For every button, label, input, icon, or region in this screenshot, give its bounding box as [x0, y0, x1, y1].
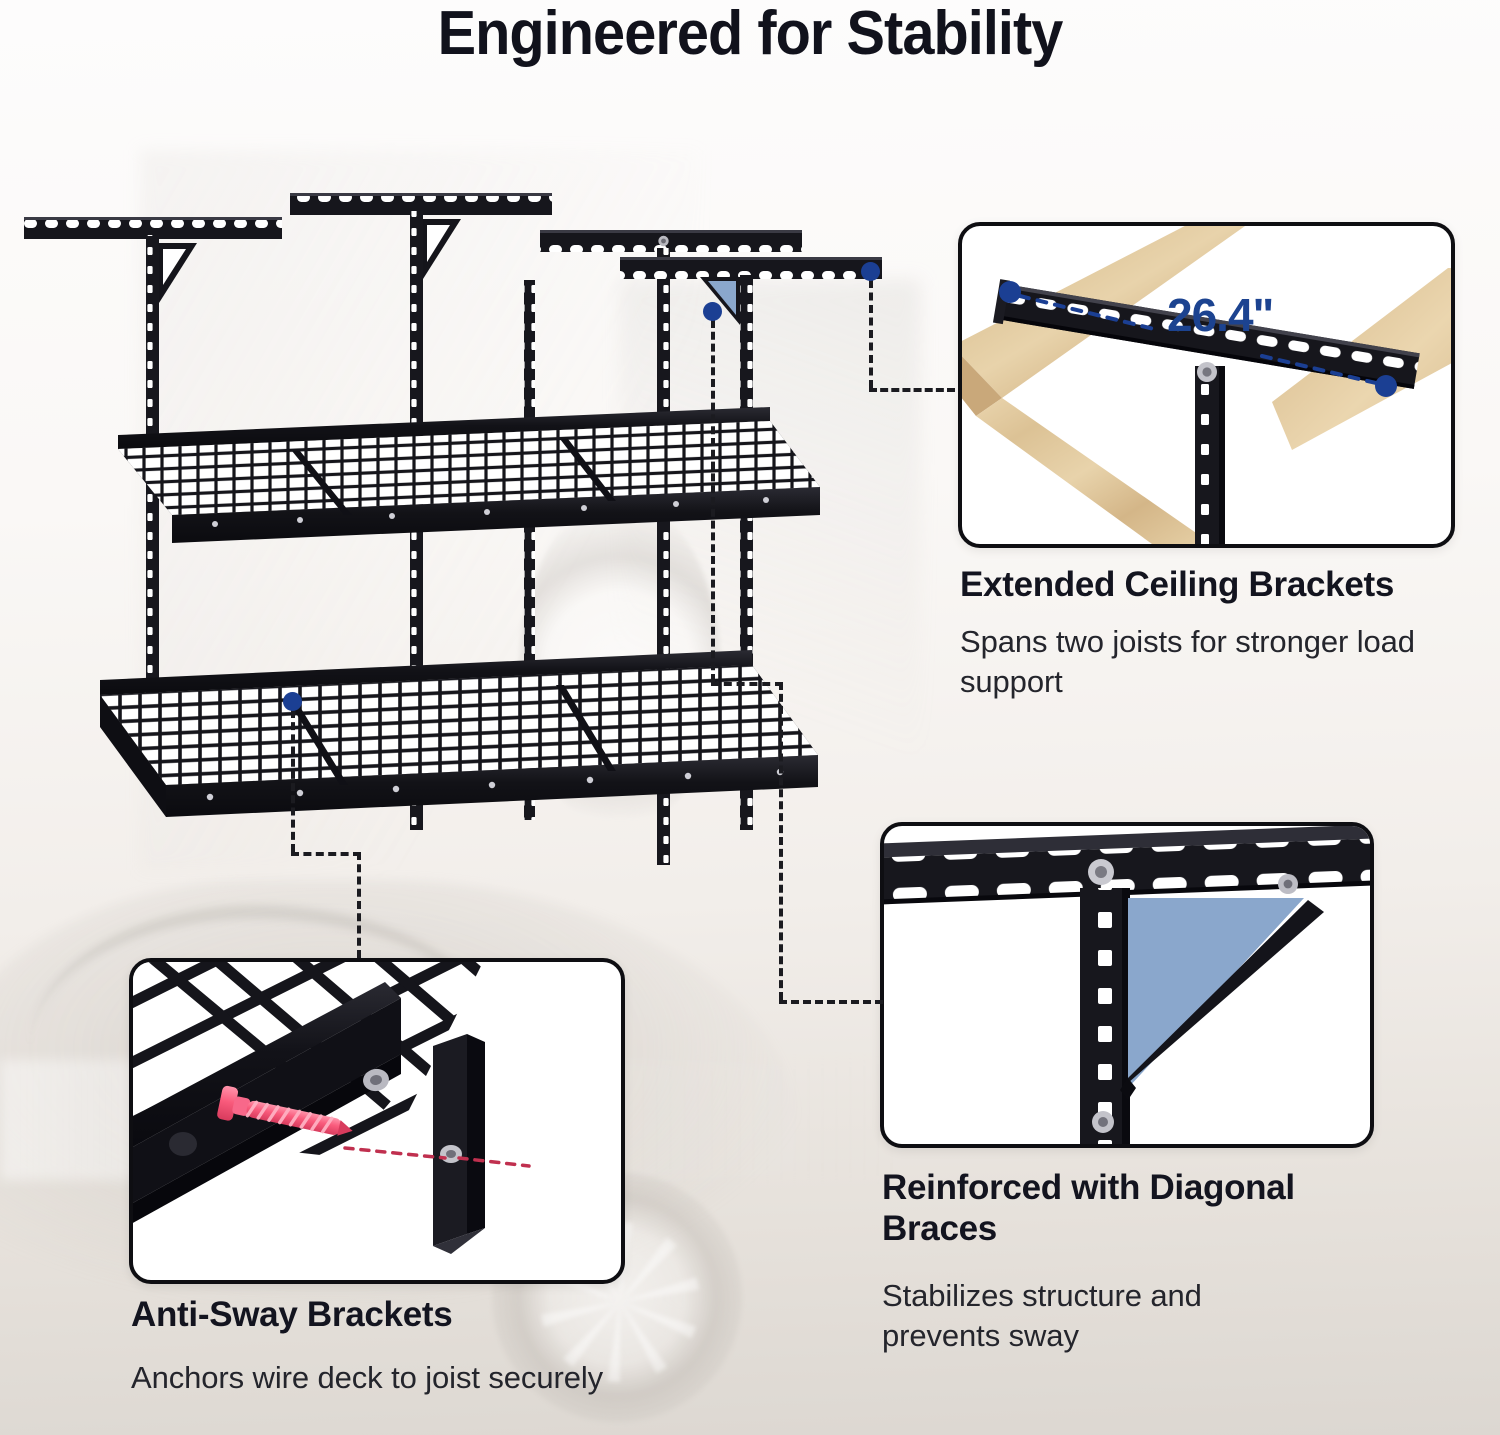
leader-line-ceiling-horizontal [869, 388, 955, 392]
caption-heading-ceiling-brackets: Extended Ceiling Brackets [960, 565, 1470, 606]
callout-dot-diagonal-brace [703, 302, 722, 321]
caption-body-ceiling-brackets: Spans two joists for stronger load suppo… [960, 622, 1460, 703]
leader-line-anti-sway-horizontal [291, 852, 361, 856]
anti-sway-strut [433, 1034, 467, 1246]
page-title: Engineered for Stability [53, 0, 1448, 69]
caption-body-diagonal-braces: Stabilizes structure and prevents sway [882, 1276, 1302, 1357]
panel-diagonal-braces [880, 822, 1374, 1148]
callout-dot-ceiling-bracket [861, 262, 880, 281]
measure-dot-right [1375, 375, 1397, 397]
bracket-upright [1195, 366, 1219, 544]
upright-post [1080, 888, 1122, 1144]
leader-line-brace-vertical-2 [779, 682, 783, 1000]
measure-dot-left [999, 281, 1021, 303]
panel-extended-ceiling-brackets: 26.4" [958, 222, 1455, 548]
anti-sway-bracket-diagram [133, 962, 621, 1280]
callout-dot-anti-sway [283, 692, 302, 711]
caption-body-anti-sway: Anchors wire deck to joist securely [131, 1358, 751, 1398]
panel-anti-sway-brackets [129, 958, 625, 1284]
infographic-canvas: Engineered for Stability [0, 0, 1500, 1435]
caption-heading-diagonal-braces: Reinforced with Diagonal Braces [882, 1168, 1352, 1249]
leader-line-anti-sway-vertical [291, 710, 295, 852]
leader-line-brace-horizontal [711, 682, 783, 686]
leader-line-anti-sway-vertical-2 [357, 852, 361, 958]
leader-line-ceiling-vertical [869, 280, 873, 388]
leader-line-brace-vertical [711, 320, 715, 682]
caption-heading-anti-sway: Anti-Sway Brackets [131, 1295, 601, 1336]
measurement-label: 26.4" [1167, 288, 1273, 342]
diagonal-brace-diagram [884, 826, 1370, 1144]
leader-line-brace-horizontal-2 [779, 1000, 883, 1004]
ceiling-bracket-diagram [962, 226, 1451, 544]
